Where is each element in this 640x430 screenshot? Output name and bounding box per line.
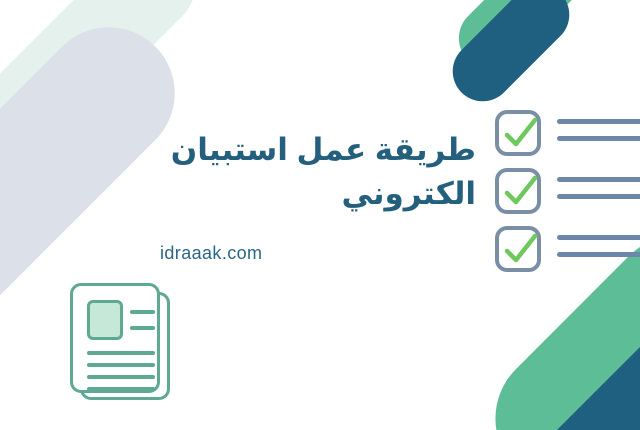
site-url-text: idraaak.com <box>160 243 262 264</box>
document-body-line <box>87 363 155 367</box>
text-line <box>557 119 640 124</box>
headline-block: طريقة عمل استبيان الكتروني <box>120 128 476 216</box>
document-body-line <box>87 387 155 391</box>
checklist-item[interactable] <box>495 168 640 216</box>
checklist-item[interactable] <box>495 226 640 274</box>
document-body-line <box>87 351 155 355</box>
document-thumbnail <box>87 300 123 340</box>
page-title-line-2: الكتروني <box>120 172 476 216</box>
document-short-line <box>130 326 155 330</box>
checkbox-2[interactable] <box>495 168 541 214</box>
checkbox-3[interactable] <box>495 226 541 272</box>
text-line <box>557 136 640 141</box>
checklist-item[interactable] <box>495 110 640 158</box>
checkbox-1[interactable] <box>495 110 541 156</box>
top-right-teal-capsule-shape <box>440 0 581 114</box>
document-short-line <box>130 310 155 314</box>
checklist-item-lines <box>557 235 640 269</box>
text-line <box>557 235 640 240</box>
checklist-group <box>495 110 640 284</box>
text-line <box>557 252 640 257</box>
page-title-line-1: طريقة عمل استبيان <box>120 128 476 172</box>
banner-canvas: طريقة عمل استبيان الكتروني idraaak.com <box>0 0 640 430</box>
text-line <box>557 194 640 199</box>
document-body-line <box>87 375 155 379</box>
document-page-front <box>70 283 160 393</box>
text-line <box>557 177 640 182</box>
documents-icon <box>62 280 178 402</box>
checklist-item-lines <box>557 177 640 211</box>
checklist-item-lines <box>557 119 640 153</box>
